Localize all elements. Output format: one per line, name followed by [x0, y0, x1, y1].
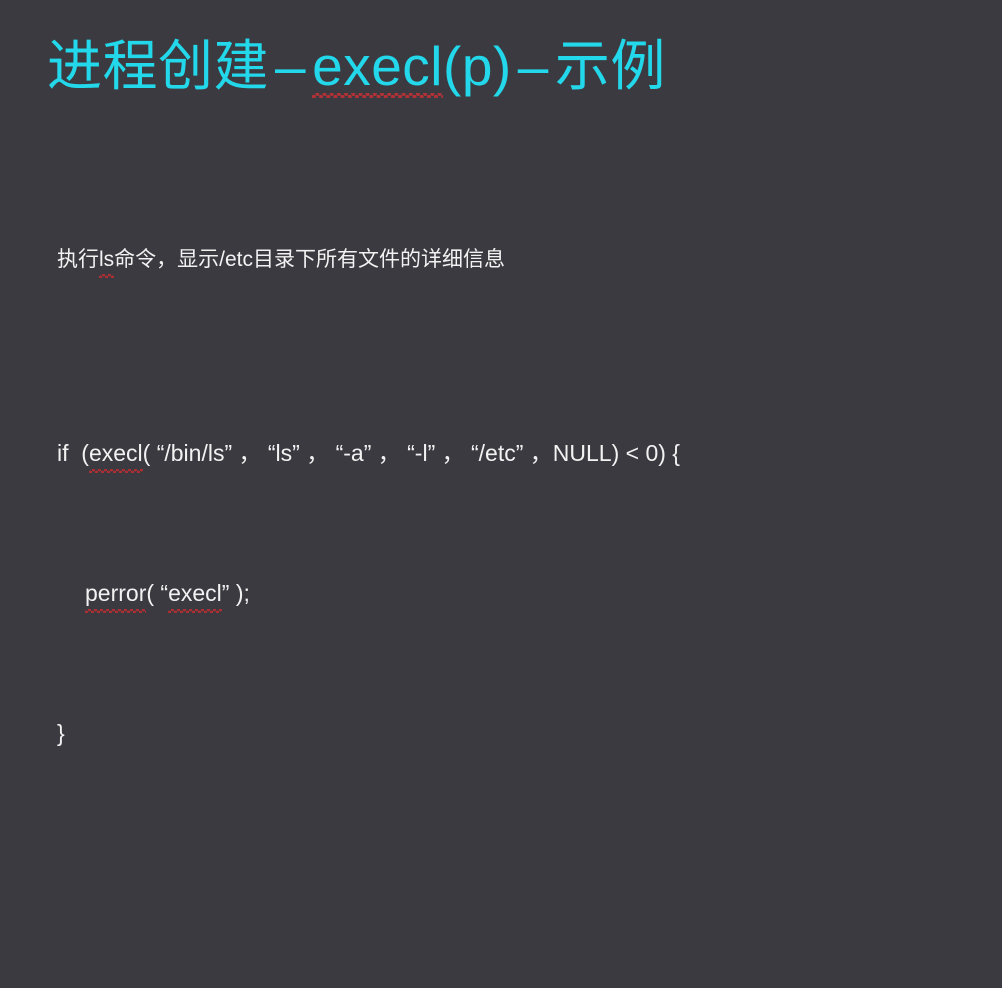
code-if-keyword-1: if ( [57, 440, 89, 466]
description-misspelled-ls: ls [99, 244, 114, 276]
title-dash-2: – [512, 35, 555, 97]
code-perror-close-1: ” ); [222, 580, 250, 606]
title-part-process-create: 进程创建 [47, 35, 269, 97]
description-prefix: 执行 [57, 248, 99, 271]
code-line-execl-if: if (execl( “/bin/ls” ， “ls” ， “-a” ， “-l… [57, 436, 957, 471]
code-misspelled-execl: execl [89, 436, 143, 471]
code-misspelled-execl-arg: execl [168, 576, 222, 611]
description-line: 执行ls命令，显示/etc目录下所有文件的详细信息 [57, 244, 957, 276]
code-misspelled-perror-1: perror [85, 576, 146, 611]
title-part-example: 示例 [555, 35, 666, 97]
code-line-execl-perror: perror( “execl” ); [57, 576, 957, 611]
description-suffix: 命令，显示/etc目录下所有文件的详细信息 [114, 248, 505, 271]
code-line-execl-closebrace: } [57, 716, 957, 751]
code-block-spacer [57, 856, 957, 891]
code-perror-open-1: ( “ [146, 580, 168, 606]
slide-body: 执行ls命令，显示/etc目录下所有文件的详细信息 if (execl( “/b… [57, 139, 957, 988]
title-part-paren-p: (p) [443, 35, 512, 97]
code-execl-args: ( “/bin/ls” ， “ls” ， “-a” ， “-l” ， “/etc… [143, 440, 680, 466]
page-title: 进程创建–execl(p)–示例 [47, 33, 666, 99]
title-misspelled-execl: execl [312, 33, 443, 99]
presentation-slide: 进程创建–execl(p)–示例 执行ls命令，显示/etc目录下所有文件的详细… [0, 0, 1002, 494]
title-dash-1: – [269, 35, 312, 97]
